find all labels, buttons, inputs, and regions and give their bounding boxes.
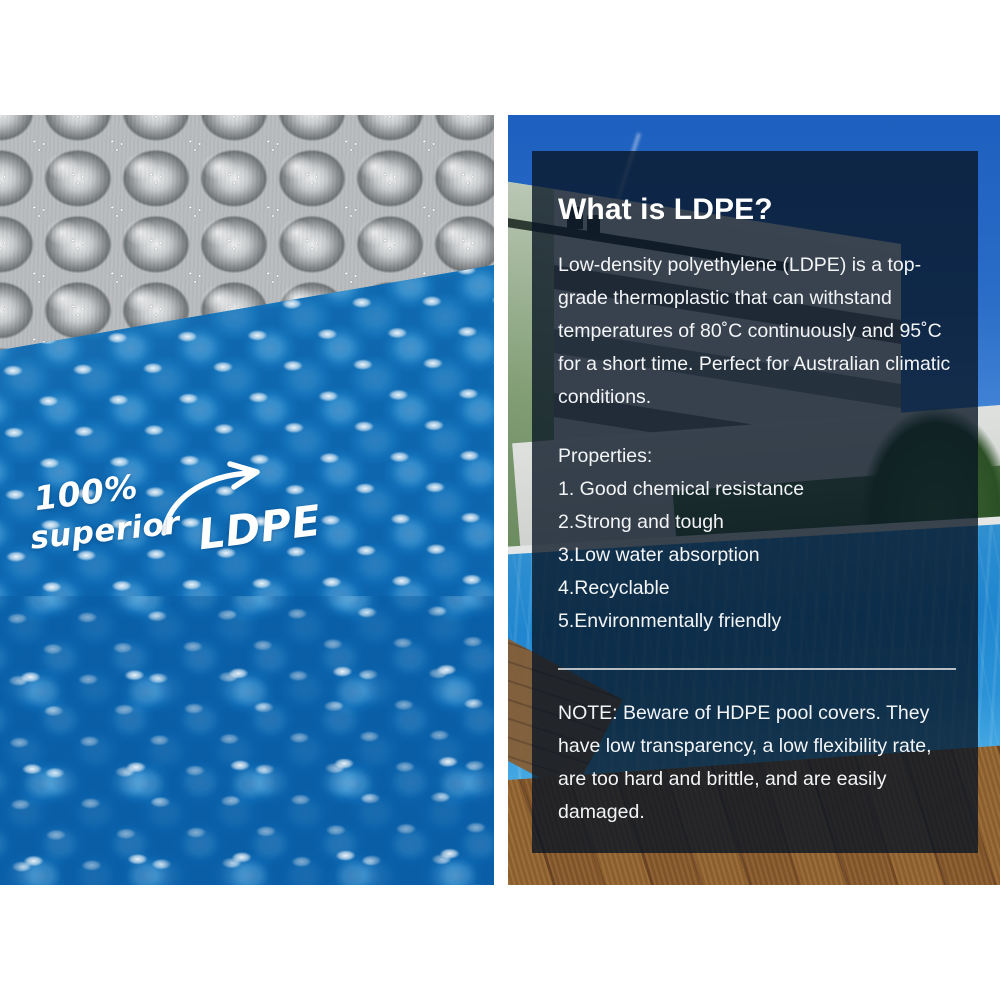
list-item: 2.Strong and tough	[558, 506, 952, 539]
properties-list: 1. Good chemical resistance 2.Strong and…	[558, 473, 952, 638]
properties-label: Properties:	[558, 440, 952, 473]
left-product-panel: 100% superior LDPE	[0, 115, 494, 885]
list-item: 1. Good chemical resistance	[558, 473, 952, 506]
properties-block: Properties: 1. Good chemical resistance …	[558, 440, 952, 638]
card-divider	[558, 668, 956, 670]
card-note-paragraph: NOTE: Beware of HDPE pool covers. They h…	[558, 697, 952, 829]
card-intro-paragraph: Low-density polyethylene (LDPE) is a top…	[558, 249, 952, 414]
card-title: What is LDPE?	[558, 193, 952, 227]
list-item: 4.Recyclable	[558, 572, 952, 605]
infographic-canvas: 100% superior LDPE What is LDPE? Low-den…	[0, 0, 1000, 1000]
list-item: 3.Low water absorption	[558, 539, 952, 572]
right-info-panel: What is LDPE? Low-density polyethylene (…	[508, 115, 1000, 885]
info-card: What is LDPE? Low-density polyethylene (…	[532, 151, 978, 853]
list-item: 5.Environmentally friendly	[558, 605, 952, 638]
